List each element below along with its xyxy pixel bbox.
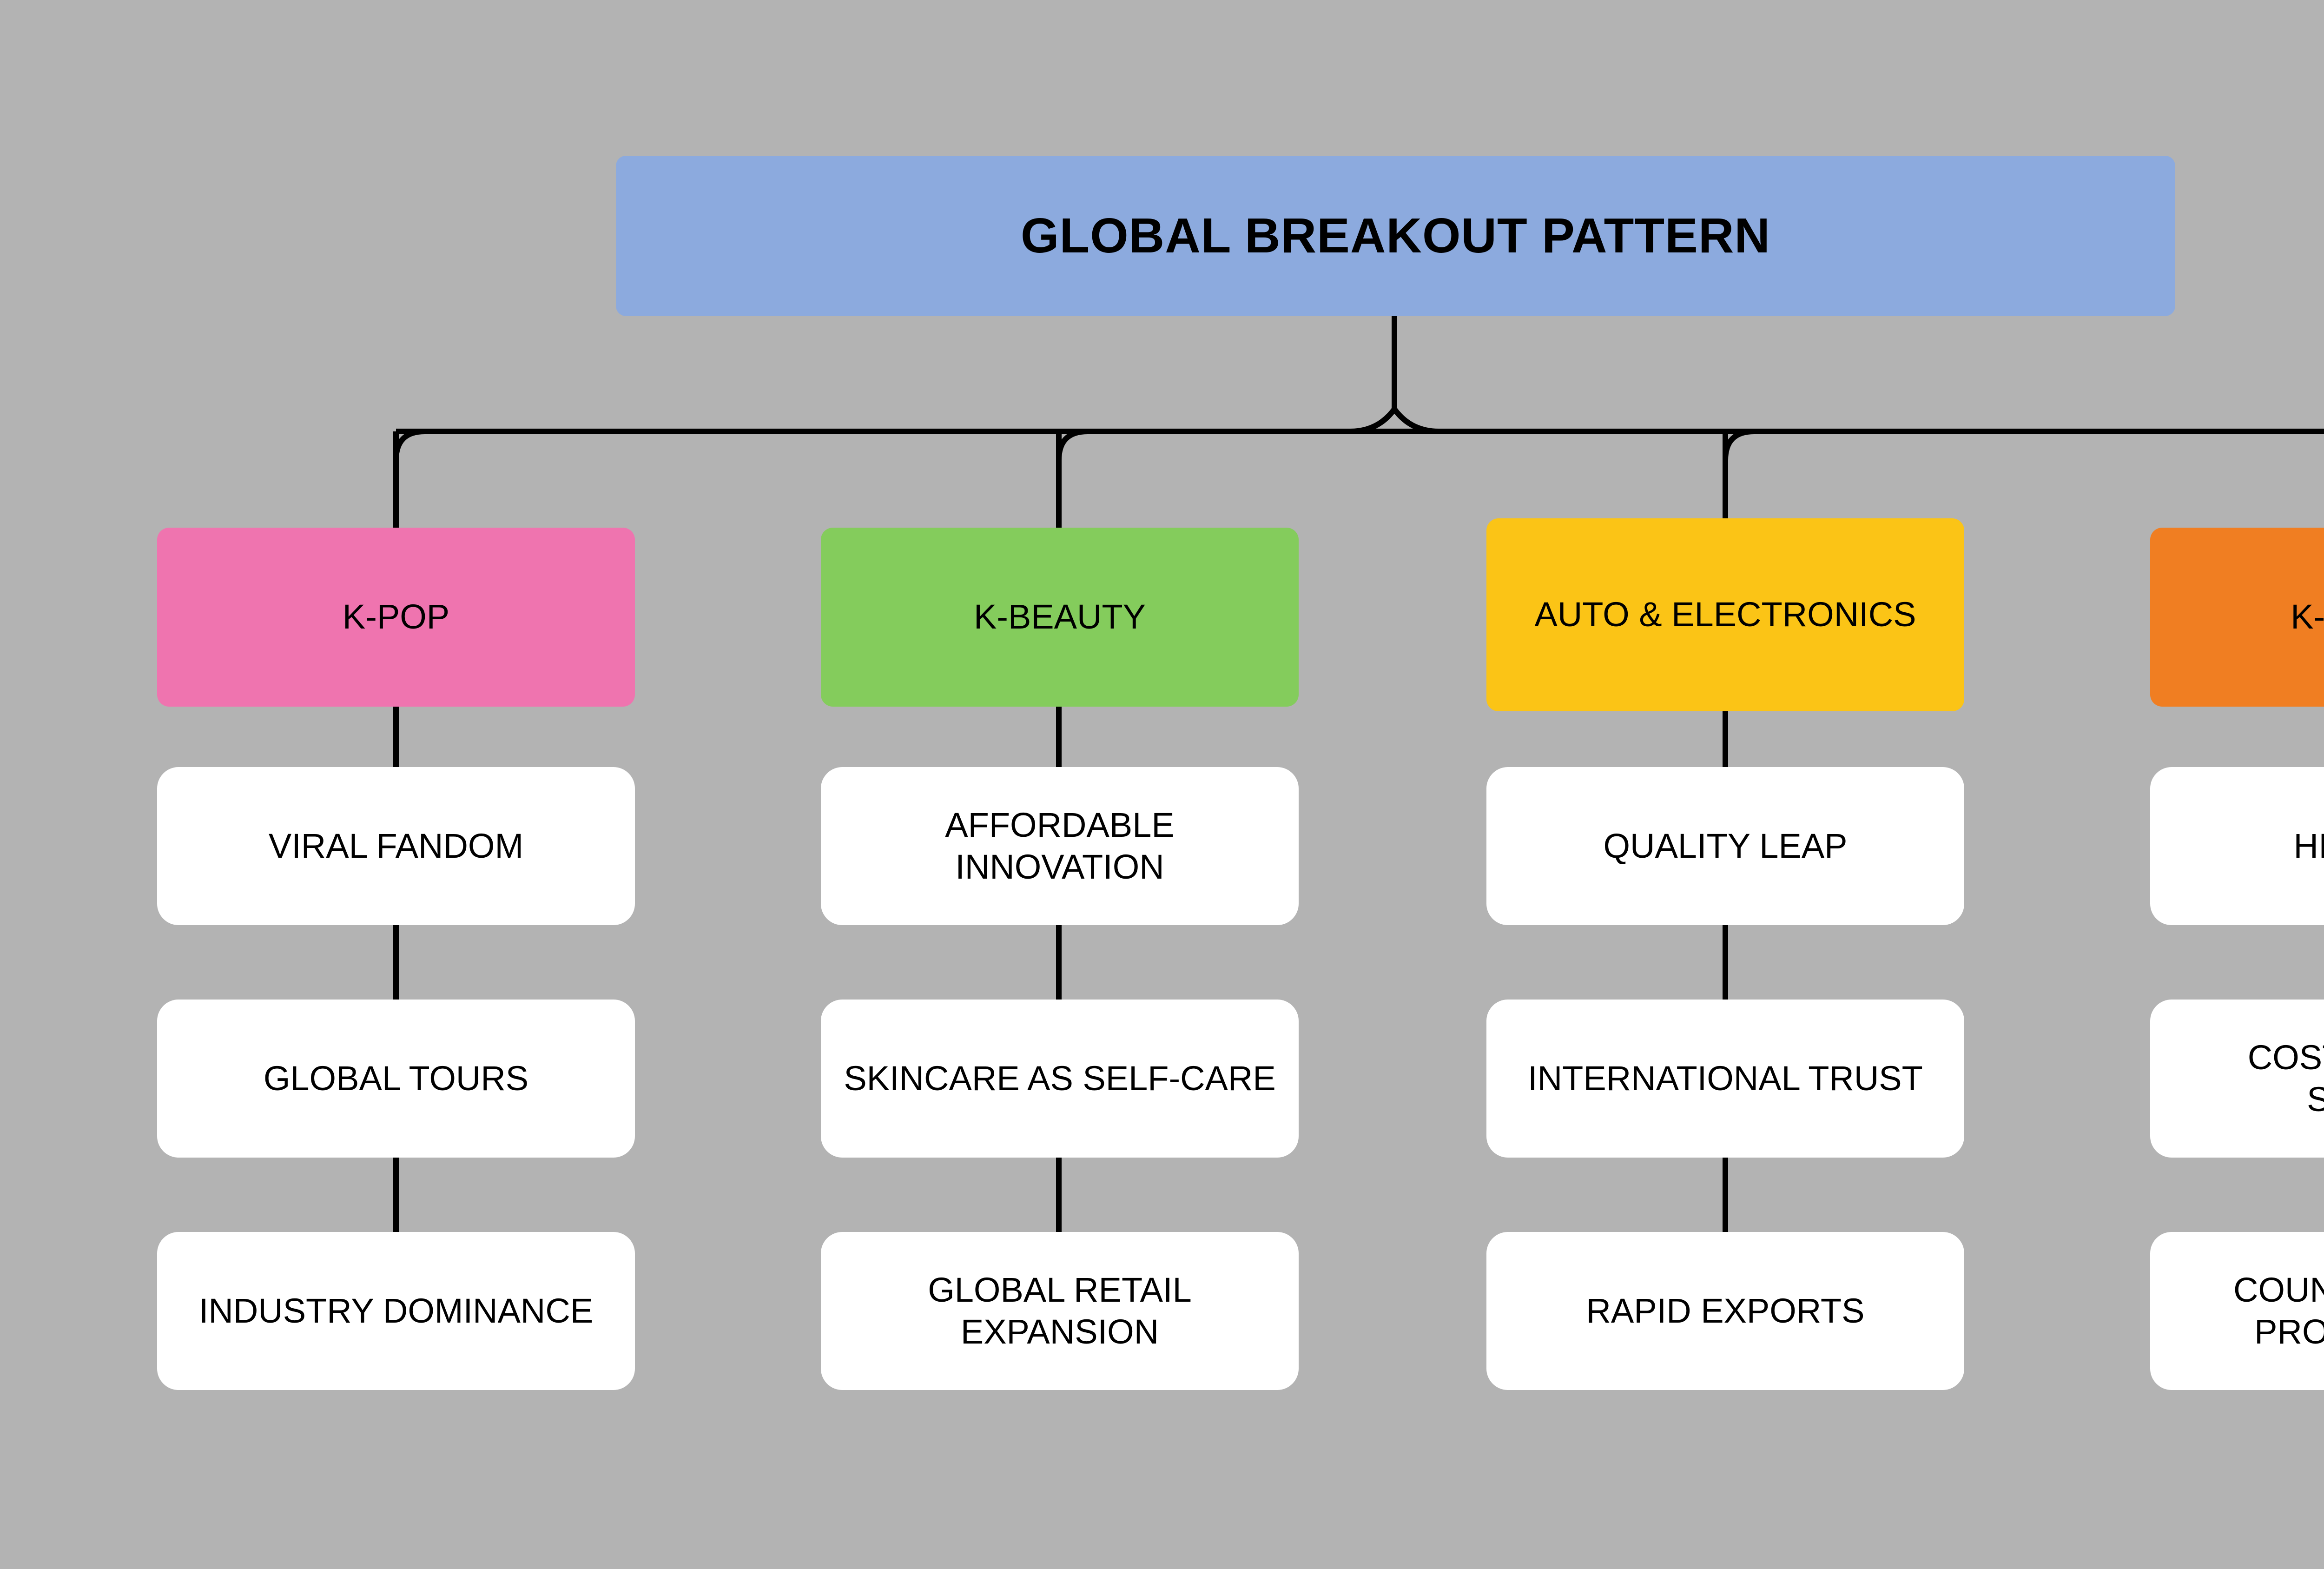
category-box-k-beauty[interactable]: K-BEAUTY [821, 528, 1299, 707]
leaf-label: HIGH-TECH [2293, 825, 2324, 867]
category-label: K-BEAUTY [974, 596, 1146, 638]
leaf-label: VIRAL FANDOM [269, 825, 523, 867]
corner-col3 [1725, 431, 1763, 470]
corner-col2 [1059, 431, 1097, 470]
leaf-label: GLOBAL TOURS [264, 1058, 528, 1099]
leaf-label: INTERNATIONAL TRUST [1528, 1058, 1923, 1099]
diagram-canvas: GLOBAL BREAKOUT PATTERN K-POP VIRAL FAND… [0, 0, 2324, 1569]
leaf-box-viral-fandom[interactable]: VIRAL FANDOM [157, 767, 635, 925]
category-label: AUTO & ELECTRONICS [1534, 594, 1916, 636]
leaf-box-international-trust[interactable]: INTERNATIONAL TRUST [1486, 1000, 1964, 1158]
leaf-box-skincare-as-self-care[interactable]: SKINCARE AS SELF-CARE [821, 1000, 1299, 1158]
leaf-label: RAPID EXPORTS [1586, 1290, 1864, 1332]
leaf-label: INDUSTRY DOMINANCE [199, 1290, 593, 1332]
leaf-label: AFFORDABLE INNOVATION [838, 804, 1282, 888]
leaf-box-rapid-exports[interactable]: RAPID EXPORTS [1486, 1232, 1964, 1390]
leaf-label: COUNTRIES SHIFT PROCUREMENT [2167, 1269, 2324, 1353]
category-box-k-defense[interactable]: K-DEFENSE [2150, 528, 2324, 707]
leaf-label: COST-EFFICIENT SYSTEMS [2167, 1037, 2324, 1121]
leaf-box-cost-efficient-systems[interactable]: COST-EFFICIENT SYSTEMS [2150, 1000, 2324, 1158]
trunk-junction-curve [1350, 409, 1439, 431]
leaf-label: GLOBAL RETAIL EXPANSION [838, 1269, 1282, 1353]
leaf-box-global-retail-expansion[interactable]: GLOBAL RETAIL EXPANSION [821, 1232, 1299, 1390]
leaf-box-global-tours[interactable]: GLOBAL TOURS [157, 1000, 635, 1158]
category-label: K-DEFENSE [2291, 596, 2324, 638]
leaf-box-quality-leap[interactable]: QUALITY LEAP [1486, 767, 1964, 925]
corner-left [396, 431, 434, 470]
leaf-label: SKINCARE AS SELF-CARE [844, 1058, 1275, 1099]
leaf-box-affordable-innovation[interactable]: AFFORDABLE INNOVATION [821, 767, 1299, 925]
page-title: GLOBAL BREAKOUT PATTERN [616, 156, 2175, 316]
category-box-k-pop[interactable]: K-POP [157, 528, 635, 707]
leaf-box-industry-dominance[interactable]: INDUSTRY DOMINANCE [157, 1232, 635, 1390]
leaf-box-countries-shift-procurement[interactable]: COUNTRIES SHIFT PROCUREMENT [2150, 1232, 2324, 1390]
leaf-label: QUALITY LEAP [1603, 825, 1847, 867]
leaf-box-high-tech[interactable]: HIGH-TECH [2150, 767, 2324, 925]
category-box-auto-electronics[interactable]: AUTO & ELECTRONICS [1486, 518, 1964, 711]
category-label: K-POP [343, 596, 449, 638]
